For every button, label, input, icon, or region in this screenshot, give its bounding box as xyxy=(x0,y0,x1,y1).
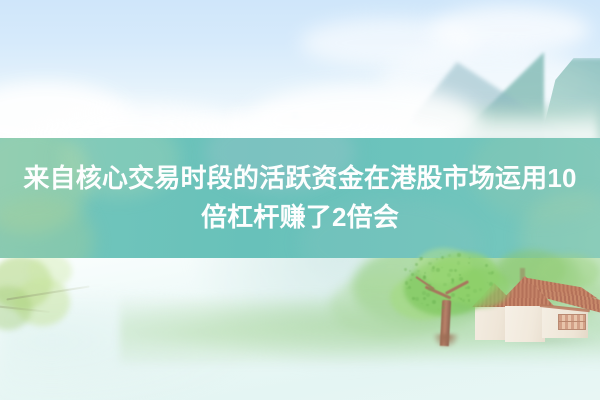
leaf-speckle xyxy=(405,281,408,284)
headline-line-2: 倍杠杆赚了2倍会 xyxy=(201,198,399,237)
headline-text-block: 来自核心交易时段的活跃资金在港股市场运用10 倍杠杆赚了2倍会 xyxy=(0,138,600,258)
leaf-speckle xyxy=(423,297,426,300)
headline-line-1: 来自核心交易时段的活跃资金在港股市场运用10 xyxy=(23,159,576,198)
leaf-speckle xyxy=(408,286,411,289)
leaf-speckle xyxy=(473,289,477,293)
leaf-speckle xyxy=(440,253,442,255)
foliage-sprig xyxy=(0,258,102,338)
leaf-speckle xyxy=(426,293,429,296)
leaf-speckle xyxy=(468,299,471,302)
leaf-speckle xyxy=(426,304,428,306)
leaf-speckle xyxy=(436,268,440,272)
leaf-speckle xyxy=(479,288,482,291)
cottage-window-mullion xyxy=(558,321,586,322)
leaf-speckle xyxy=(485,264,488,267)
leaf-speckle xyxy=(420,257,423,260)
leaf-speckle xyxy=(424,272,426,274)
leaf-speckle xyxy=(417,270,420,273)
leaf-speckle xyxy=(457,261,461,265)
cottage-front-wall xyxy=(505,304,545,342)
leaf-speckle xyxy=(442,306,445,309)
leaf-speckle xyxy=(412,297,415,300)
cottage-window xyxy=(558,314,586,330)
cover-image: 来自核心交易时段的活跃资金在港股市场运用10 倍杠杆赚了2倍会 xyxy=(0,0,600,400)
tree-root xyxy=(433,334,459,348)
sprig-leaf xyxy=(28,258,72,288)
leaf-speckle xyxy=(441,256,444,259)
leaf-speckle xyxy=(436,258,438,260)
leaf-speckle xyxy=(432,288,435,291)
leaf-speckle xyxy=(466,294,470,298)
leaf-speckle xyxy=(422,291,426,295)
leaf-speckle xyxy=(411,273,413,275)
leaf-speckle xyxy=(428,262,432,266)
leaf-speckle xyxy=(445,296,447,298)
leaf-speckle xyxy=(460,298,462,300)
cloud xyxy=(430,6,590,54)
leaf-speckle xyxy=(415,263,418,266)
